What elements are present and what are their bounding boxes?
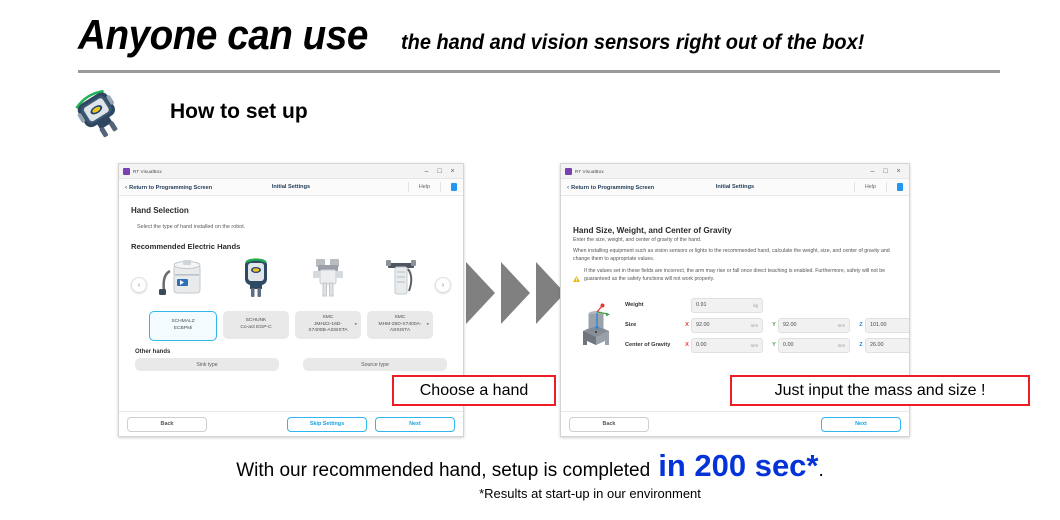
schmalz-vacuum-gripper-image [149,255,216,299]
cog-axis-x-label: X [683,342,691,348]
next-button[interactable]: Next [375,417,455,432]
page-description: Enter the size, weight, and center of gr… [573,237,897,243]
maximize-button[interactable]: □ [433,168,446,175]
callout-input-mass-size: Just input the mass and size ! [730,375,1030,406]
weight-input[interactable]: 0.91 kg [691,298,763,313]
size-label: Size [625,322,683,328]
robot-gripper-icon [68,88,130,140]
parameter-fields: Weight 0.91 kg Size X 92.00 mm [625,297,910,357]
schunk-parallel-gripper-image [222,255,289,299]
close-button[interactable]: × [892,168,905,175]
cog-x-value: 0.00 [696,342,707,348]
page-note: When installing equipment such as vision… [573,248,897,263]
right-window-navbar: ‹Return to Programming Screen Initial Se… [561,179,909,196]
flow-arrows [466,262,566,326]
size-x-input[interactable]: 92.00 mm [691,318,763,333]
bottom-highlight-text: in 200 sec* [658,450,818,481]
warning-block: If the values set in these fields are in… [573,268,897,287]
size-y-value: 92.00 [783,322,797,328]
return-label: Return to Programming Screen [571,185,654,191]
left-window-navbar: ‹Return to Programming Screen Initial Se… [119,179,463,196]
nav-divider [854,182,855,192]
callout-choose-a-hand: Choose a hand [392,375,556,406]
size-x-value: 92.00 [696,322,710,328]
hand-label-line1: SCHMALZ [171,319,194,324]
weight-row: Weight 0.91 kg [625,297,910,313]
hand-label-line1: SMC [323,315,334,320]
smc-jmhz2-gripper-image [294,255,361,299]
size-z-input[interactable]: 101.00 mm [865,318,910,333]
app-logo-icon [123,168,130,175]
weight-label: Weight [625,302,683,308]
next-button[interactable]: Next [821,417,901,432]
hand-label-line2: JMHZ2-16D- [314,322,342,327]
hand-carousel: ‹ › [131,255,451,311]
size-z-value: 101.00 [870,322,887,328]
return-label: Return to Programming Screen [129,185,212,191]
hand-option-schunk[interactable]: SCHUNK Co-act EGP-C [223,311,289,339]
cog-z-input[interactable]: 26.00 mm [865,338,910,353]
skip-settings-button[interactable]: Skip Settings [287,417,367,432]
nav-divider [408,182,409,192]
right-window-footer: Back Next [561,411,909,436]
other-hand-sink-type-button[interactable]: Sink type [135,358,279,371]
poster-root: Anyone can use the hand and vision senso… [0,0,1060,520]
howto-title: How to set up [170,100,308,124]
page-title: Hand Selection [131,206,451,215]
left-window-titlebar: RT VisualBox – □ × [119,164,463,179]
help-link[interactable]: Help [419,184,430,190]
hand-cad-model-with-axes-image [573,297,619,347]
cog-y-input[interactable]: 0.00 mm [778,338,850,353]
hand-option-smc-mhm[interactable]: SMC MHM-25D-X7400A- ASSISTA ▾ [367,311,433,339]
hand-label-line3: X7400B-ASSISTA [308,328,347,333]
size-row: Size X 92.00 mm Y 92.00 mm Z [625,317,910,333]
triangle-right-icon [466,262,495,324]
hand-option-schmalz[interactable]: SCHMALZ ECBPMi [149,311,217,341]
minimize-button[interactable]: – [866,168,879,175]
bottom-footnote: *Results at start-up in our environment [0,486,1060,501]
bottom-lead-text: With our recommended hand, setup is comp… [236,460,650,482]
nav-divider [886,182,887,192]
hand-label-line1: SMC [395,315,406,320]
carousel-prev-button[interactable]: ‹ [131,277,147,293]
hand-label-line2: ECBPMi [174,326,192,331]
center-of-gravity-label: Center of Gravity [625,342,683,348]
hand-card[interactable] [367,255,434,299]
warning-text: If the values set in these fields are in… [584,268,897,287]
page-title: Hand Size, Weight, and Center of Gravity [573,226,897,235]
size-y-input[interactable]: 92.00 mm [778,318,850,333]
cog-y-value: 0.00 [783,342,794,348]
headline: Anyone can use the hand and vision senso… [78,14,1038,66]
chevron-left-icon: ‹ [567,184,569,191]
bottom-copy: With our recommended hand, setup is comp… [0,450,1060,501]
hand-card[interactable] [222,255,289,299]
user-badge-icon[interactable] [897,183,903,191]
hand-label-line3: ASSISTA [390,328,410,333]
hand-card[interactable] [294,255,361,299]
center-of-gravity-row: Center of Gravity X 0.00 mm Y 0.00 mm [625,337,910,353]
hand-card[interactable] [149,255,216,299]
size-y-unit: mm [838,323,845,328]
left-window-app-name: RT VisualBox [133,169,162,174]
return-to-programming-screen-button[interactable]: ‹Return to Programming Screen [567,184,654,191]
nav-divider [440,182,441,192]
other-hand-source-type-button[interactable]: Source type [303,358,447,371]
page-description: Select the type of hand installed on the… [137,224,451,230]
weight-value: 0.91 [696,302,707,308]
warning-triangle-icon [573,269,580,287]
cog-z-value: 26.00 [870,342,884,348]
minimize-button[interactable]: – [420,168,433,175]
cog-x-unit: mm [751,343,758,348]
bottom-trail-text: . [819,460,824,482]
other-hands-row: Sink type Source type [135,358,447,371]
hand-label-line2: Co-act EGP-C [240,325,271,330]
hand-label-row: SCHMALZ ECBPMi SCHUNK Co-act EGP-C SMC J… [149,311,433,341]
chevron-down-icon[interactable]: ▾ [426,322,429,329]
cog-axis-z-label: Z [857,342,865,348]
hand-label-line1: SCHUNK [246,318,267,323]
headline-sub: the hand and vision sensors right out of… [401,32,864,53]
right-window-app-name: RT VisualBox [575,169,604,174]
cog-y-unit: mm [838,343,845,348]
carousel-next-button[interactable]: › [435,277,451,293]
hand-option-smc-jmhz2[interactable]: SMC JMHZ2-16D- X7400B-ASSISTA ▾ [295,311,361,339]
return-to-programming-screen-button[interactable]: ‹Return to Programming Screen [125,184,212,191]
user-badge-icon[interactable] [451,183,457,191]
chevron-left-icon: ‹ [125,184,127,191]
maximize-button[interactable]: □ [879,168,892,175]
size-axis-z-label: Z [857,322,865,328]
hand-parameters-form: Weight 0.91 kg Size X 92.00 mm [573,297,897,357]
other-hands-heading: Other hands [135,349,451,355]
headline-divider [78,70,1000,73]
hand-label-line2: MHM-25D-X7400A- [379,322,422,327]
smc-mhm-magnet-gripper-image [367,255,434,299]
cog-x-input[interactable]: 0.00 mm [691,338,763,353]
app-logo-icon [565,168,572,175]
right-window-titlebar: RT VisualBox – □ × [561,164,909,179]
size-x-unit: mm [751,323,758,328]
left-window-footer: Back Skip Settings Next [119,411,463,436]
close-button[interactable]: × [446,168,459,175]
headline-main: Anyone can use [78,14,368,56]
chevron-down-icon[interactable]: ▾ [354,322,357,329]
triangle-right-icon [501,262,530,324]
weight-unit: kg [753,303,758,308]
recommended-hands-heading: Recommended Electric Hands [131,242,451,251]
help-link[interactable]: Help [865,184,876,190]
cog-axis-y-label: Y [770,342,778,348]
size-axis-y-label: Y [770,322,778,328]
back-button[interactable]: Back [127,417,207,432]
size-axis-x-label: X [683,322,691,328]
back-button[interactable]: Back [569,417,649,432]
